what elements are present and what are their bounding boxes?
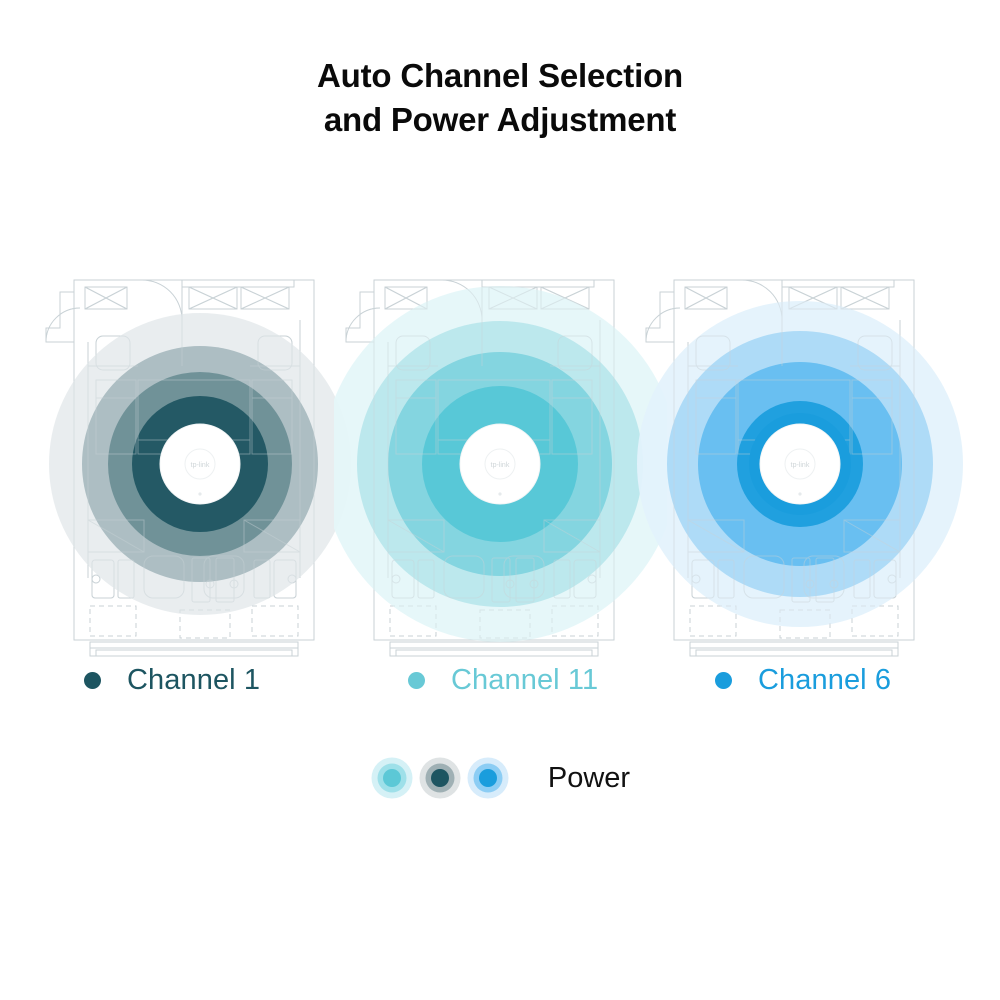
power-icon-cyan (370, 756, 415, 801)
power-ring (479, 769, 497, 787)
legend-channel-11: Channel 11 (408, 652, 598, 708)
channel-label: Channel 6 (758, 664, 891, 697)
channel-label: Channel 1 (127, 664, 260, 697)
legend-channel-6: Channel 6 (715, 652, 891, 708)
panel-channel-6: tp-link (634, 262, 967, 662)
svg-text:tp-link: tp-link (491, 462, 510, 469)
page-title-line-1: Auto Channel Selection (317, 57, 683, 94)
channel-legends: Channel 1 Channel 11 Channel 6 (0, 652, 1000, 708)
channel-dot-icon (715, 672, 732, 689)
page-title: Auto Channel Selection and Power Adjustm… (0, 54, 1000, 142)
svg-text:tp-link: tp-link (791, 462, 810, 469)
panel-channel-11: tp-link (334, 262, 667, 662)
page-title-line-2: and Power Adjustment (0, 98, 1000, 142)
panel-channel-1: tp-link (34, 262, 367, 662)
power-icon-group (370, 756, 514, 801)
power-legend-label: Power (548, 762, 630, 795)
infographic-root: Auto Channel Selection and Power Adjustm… (0, 0, 1000, 1000)
power-icon-teal (418, 756, 463, 801)
channel-dot-icon (84, 672, 101, 689)
channel-dot-icon (408, 672, 425, 689)
legend-channel-1: Channel 1 (84, 652, 260, 708)
coverage-panels: tp-link tp-link tp-link (0, 262, 1000, 662)
power-ring (431, 769, 449, 787)
power-legend: Power (0, 752, 1000, 804)
svg-text:tp-link: tp-link (191, 462, 210, 469)
power-icon-blue (466, 756, 511, 801)
channel-label: Channel 11 (451, 664, 598, 697)
power-ring (383, 769, 401, 787)
